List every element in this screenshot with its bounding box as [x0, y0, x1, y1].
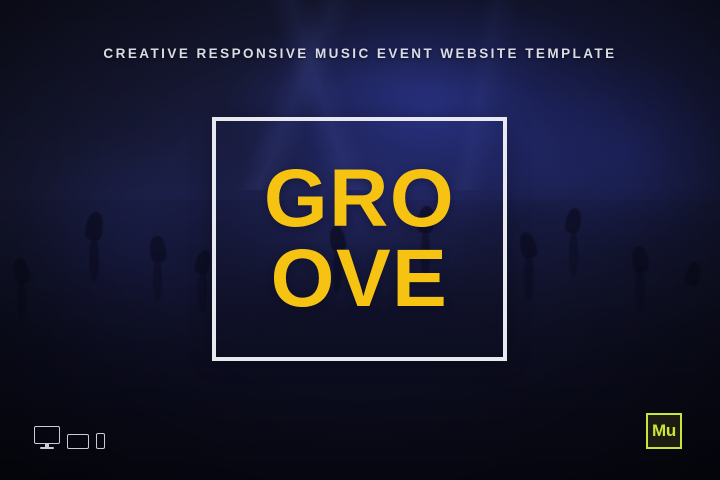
title-block: GRO OVE	[212, 117, 507, 361]
tablet-icon	[67, 434, 89, 449]
phone-icon	[96, 433, 105, 449]
title-line-1: GRO	[264, 159, 455, 239]
title-line-2: OVE	[271, 239, 449, 319]
adobe-muse-badge: Mu	[646, 413, 682, 449]
template-preview-canvas: CREATIVE RESPONSIVE MUSIC EVENT WEBSITE …	[0, 0, 720, 480]
tagline: CREATIVE RESPONSIVE MUSIC EVENT WEBSITE …	[0, 46, 720, 61]
responsive-device-icons	[34, 426, 105, 450]
desktop-icon	[34, 426, 60, 450]
